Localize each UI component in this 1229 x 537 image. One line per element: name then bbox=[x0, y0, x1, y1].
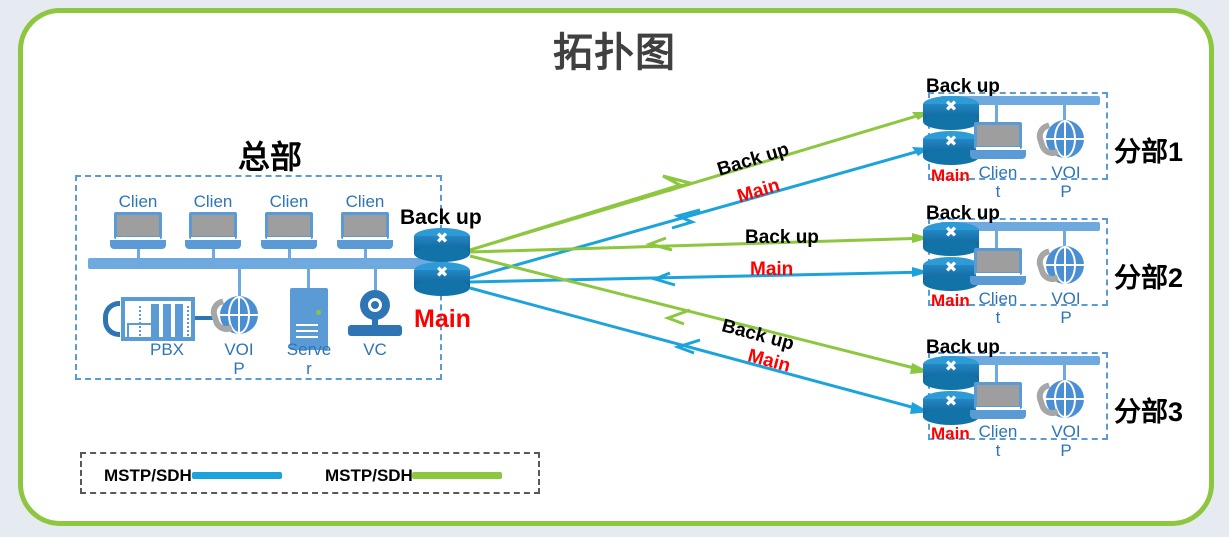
vc-label-line1: VC bbox=[363, 340, 387, 359]
headquarters-bus bbox=[88, 258, 448, 269]
voip-label-line1: VOI bbox=[1051, 163, 1080, 182]
hq-router-backup[interactable]: ✖ bbox=[414, 228, 470, 262]
branch-2-router-main-label: Main bbox=[931, 291, 970, 311]
client-label-line1: Clien bbox=[194, 192, 233, 211]
branch-2-title: 分部2 bbox=[1114, 256, 1183, 295]
client-stem-4 bbox=[364, 249, 367, 261]
pbx-label-line1: PBX bbox=[150, 340, 184, 359]
client-laptop-1[interactable] bbox=[110, 212, 166, 252]
laptop-screen-icon bbox=[974, 122, 1022, 149]
server-label-line2: r bbox=[306, 359, 312, 378]
laptop-screen-icon bbox=[341, 212, 389, 239]
router-arrows-icon: ✖ bbox=[936, 261, 966, 274]
client-label-line2: t bbox=[996, 441, 1001, 460]
laptop-base-icon bbox=[337, 240, 393, 249]
hq-router-main[interactable]: ✖ bbox=[414, 262, 470, 296]
voip-label-line2: P bbox=[1060, 182, 1071, 201]
laptop-screen-icon bbox=[189, 212, 237, 239]
camera-base-icon bbox=[348, 325, 402, 336]
client-laptop-4[interactable] bbox=[337, 212, 393, 252]
client-label-line1: Clien bbox=[270, 192, 309, 211]
branch-2-voip-icon[interactable] bbox=[1038, 246, 1084, 292]
laptop-screen-icon bbox=[114, 212, 162, 239]
laptop-base-icon bbox=[110, 240, 166, 249]
phone-handset-icon bbox=[103, 301, 120, 337]
voip-label-line1: VOI bbox=[1051, 289, 1080, 308]
pbx-label: PBX bbox=[136, 340, 198, 359]
branch-3-client-label: Clien t bbox=[968, 422, 1028, 460]
router-bottom-icon bbox=[414, 245, 470, 262]
client-label-line2: t bbox=[996, 308, 1001, 327]
branch-3-voip-icon[interactable] bbox=[1038, 380, 1084, 426]
server-label-line1: Serve bbox=[287, 340, 331, 359]
client-label-line1: Clien bbox=[346, 192, 385, 211]
client-stem-1 bbox=[137, 249, 140, 261]
laptop-base-icon bbox=[970, 410, 1026, 419]
voip-icon[interactable] bbox=[212, 296, 258, 342]
hq-router-main-label: Main bbox=[414, 305, 471, 334]
branch-1-router-main-label: Main bbox=[931, 166, 970, 186]
voip-stem bbox=[238, 265, 241, 299]
link-label-main-branch2: Main bbox=[750, 259, 793, 281]
router-arrows-icon: ✖ bbox=[936, 135, 966, 148]
client-label-line1: Clien bbox=[979, 422, 1018, 441]
vc-stem bbox=[374, 265, 377, 291]
client-laptop-3[interactable] bbox=[261, 212, 317, 252]
laptop-base-icon bbox=[970, 150, 1026, 159]
voip-label-line1: VOI bbox=[1051, 422, 1080, 441]
hq-router-backup-label: Back up bbox=[400, 206, 482, 230]
branch-1-router-backup-label: Back up bbox=[926, 76, 1000, 98]
laptop-base-icon bbox=[970, 276, 1026, 285]
headquarters-title: 总部 bbox=[180, 132, 360, 178]
client-laptop-2[interactable] bbox=[185, 212, 241, 252]
legend: MSTP/SDH MSTP/SDH bbox=[80, 452, 540, 494]
client-stem-2 bbox=[212, 249, 215, 261]
branch-1-title: 分部1 bbox=[1114, 130, 1183, 169]
server-stem bbox=[307, 265, 310, 289]
laptop-screen-icon bbox=[974, 382, 1022, 409]
server-label: Serve r bbox=[278, 340, 340, 378]
legend-label-1: MSTP/SDH bbox=[104, 466, 192, 486]
router-arrows-icon: ✖ bbox=[936, 395, 966, 408]
vc-camera-icon[interactable] bbox=[348, 290, 402, 340]
branch-3-title: 分部3 bbox=[1114, 390, 1183, 429]
voip-label-line2: P bbox=[1060, 308, 1071, 327]
laptop-screen-icon bbox=[265, 212, 313, 239]
voip-label-line2: P bbox=[233, 359, 244, 378]
router-bottom-icon bbox=[414, 279, 470, 296]
client-label-line1: Clien bbox=[979, 289, 1018, 308]
server-led-icon bbox=[316, 310, 321, 315]
branch-1-client-laptop[interactable] bbox=[970, 122, 1026, 162]
router-arrows-icon: ✖ bbox=[427, 266, 457, 279]
client-stem-3 bbox=[288, 249, 291, 261]
legend-line-2 bbox=[412, 472, 502, 479]
router-arrows-icon: ✖ bbox=[936, 226, 966, 239]
branch-3-client-laptop[interactable] bbox=[970, 382, 1026, 422]
branch-2-voip-label: VOI P bbox=[1036, 289, 1096, 327]
link-label-backup-branch2: Back up bbox=[745, 227, 819, 249]
voip-label-line1: VOI bbox=[224, 340, 253, 359]
pbx-rack-icon bbox=[121, 297, 195, 341]
branch-3-voip-label: VOI P bbox=[1036, 422, 1096, 460]
vc-label: VC bbox=[344, 340, 406, 359]
branch-1-client-label: Clien t bbox=[968, 163, 1028, 201]
branch-2-client-laptop[interactable] bbox=[970, 248, 1026, 288]
branch-1-voip-label: VOI P bbox=[1036, 163, 1096, 201]
branch-1-voip-icon[interactable] bbox=[1038, 120, 1084, 166]
laptop-base-icon bbox=[185, 240, 241, 249]
laptop-screen-icon bbox=[974, 248, 1022, 275]
voip-label: VOI P bbox=[208, 340, 270, 378]
voip-label-line2: P bbox=[1060, 441, 1071, 460]
camera-lens-icon bbox=[360, 290, 390, 320]
page-title: 拓扑图 bbox=[0, 20, 1229, 78]
router-arrows-icon: ✖ bbox=[427, 232, 457, 245]
legend-line-1 bbox=[192, 472, 282, 479]
client-label-line1: Clien bbox=[979, 163, 1018, 182]
laptop-base-icon bbox=[261, 240, 317, 249]
client-label-line2: t bbox=[996, 182, 1001, 201]
router-arrows-icon: ✖ bbox=[936, 360, 966, 373]
pbx-icon[interactable] bbox=[103, 297, 199, 341]
topology-diagram: 拓扑图 Back up Main Back up Main Back up Ma… bbox=[0, 0, 1229, 537]
client-label-line1: Clien bbox=[119, 192, 158, 211]
legend-label-2: MSTP/SDH bbox=[325, 466, 413, 486]
router-arrows-icon: ✖ bbox=[936, 100, 966, 113]
branch-3-router-main-label: Main bbox=[931, 424, 970, 444]
branch-2-client-label: Clien t bbox=[968, 289, 1028, 327]
